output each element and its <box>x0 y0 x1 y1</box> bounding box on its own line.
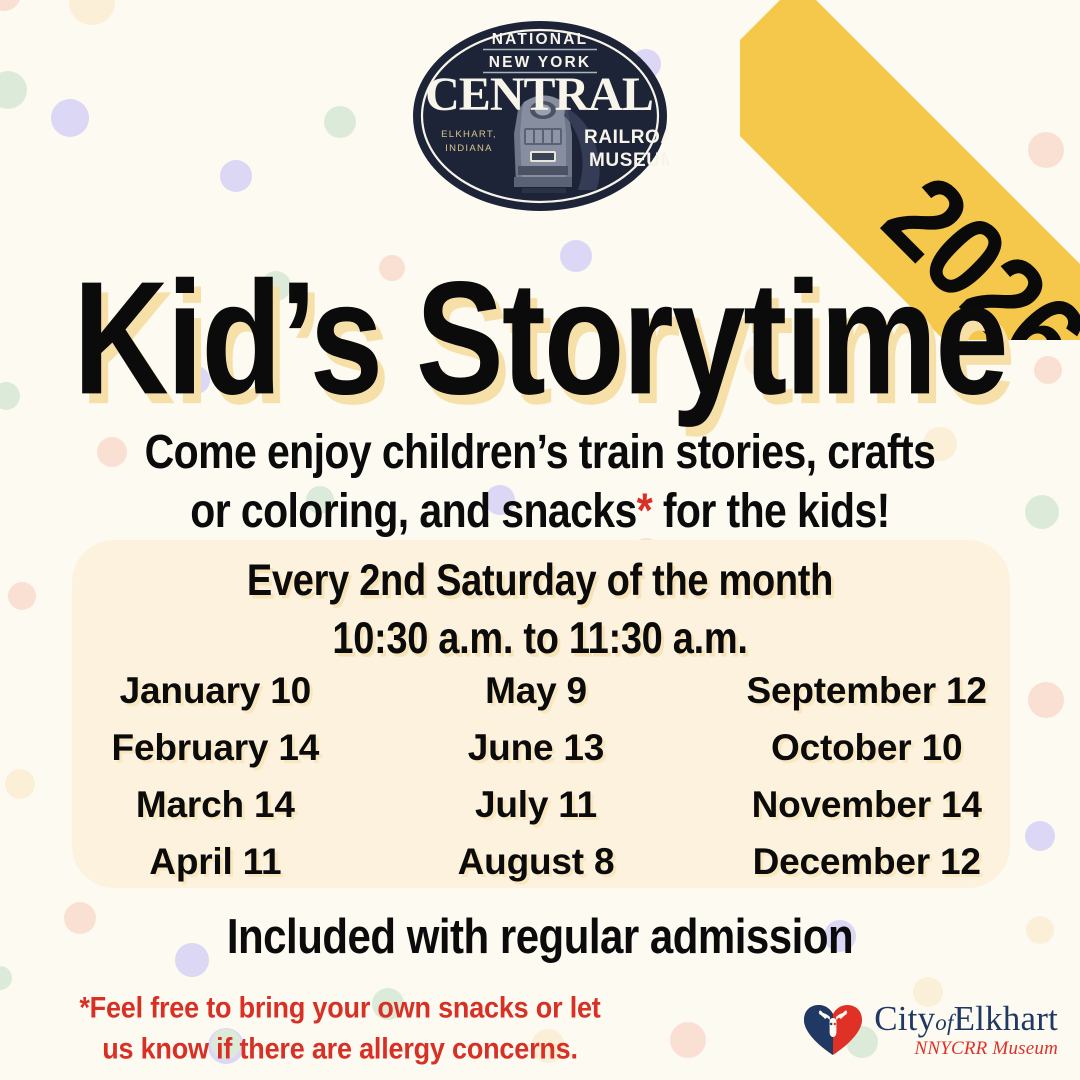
schedule-column-2: May 9 June 13 July 11 August 8 <box>393 665 708 887</box>
city-name-of: of <box>935 1010 953 1035</box>
schedule-date: June 13 <box>468 722 604 773</box>
city-name: CityofElkhart <box>874 1001 1058 1036</box>
schedule-date: November 14 <box>752 779 982 830</box>
logo-right-line1: RAILROAD <box>584 127 669 148</box>
city-name-city: City <box>874 999 935 1038</box>
subtitle: Come enjoy children’s train stories, cra… <box>0 422 1080 540</box>
subtitle-line-1: Come enjoy children’s train stories, cra… <box>44 422 1036 481</box>
schedule-date: August 8 <box>458 836 615 887</box>
schedule-date: February 14 <box>112 722 320 773</box>
schedule-dates: January 10 February 14 March 14 April 11… <box>72 665 1010 887</box>
schedule-date: January 10 <box>120 665 311 716</box>
footnote-line-1: *Feel free to bring your own snacks or l… <box>40 988 640 1029</box>
confetti-dot <box>5 769 35 799</box>
museum-logo: NATIONAL NEW YORK CENTRAL ELKHART, INDIA… <box>411 18 669 214</box>
schedule-heading: Every 2nd Saturday of the month 10:30 a.… <box>0 552 1080 668</box>
schedule-date: March 14 <box>136 779 295 830</box>
confetti-dot <box>1028 682 1064 718</box>
admission-note: Included with regular admission <box>0 908 1080 965</box>
schedule-column-1: January 10 February 14 March 14 April 11 <box>72 665 393 887</box>
schedule-heading-line-2: 10:30 a.m. to 11:30 a.m. <box>0 610 1080 668</box>
schedule-date: April 11 <box>149 836 281 887</box>
footnote-line-2: us know if there are allergy concerns. <box>40 1029 640 1070</box>
subtitle-line-2-before: or coloring, and snacks <box>190 483 636 537</box>
logo-location-line2: INDIANA <box>445 143 493 154</box>
confetti-dot <box>670 1022 706 1058</box>
confetti-dot <box>0 966 12 990</box>
elk-heart-icon <box>800 1002 866 1058</box>
city-logo-subtitle: NNYCRR Museum <box>874 1039 1058 1058</box>
city-of-elkhart-logo: CityofElkhart NNYCRR Museum <box>800 1001 1058 1058</box>
subtitle-line-2-after: for the kids! <box>652 483 890 537</box>
subtitle-line-2: or coloring, and snacks* for the kids! <box>44 481 1036 540</box>
logo-line1: NATIONAL <box>492 31 589 48</box>
schedule-date: December 12 <box>753 836 981 887</box>
snacks-asterisk: * <box>637 483 652 537</box>
schedule-heading-line-1: Every 2nd Saturday of the month <box>0 552 1080 610</box>
confetti-dot <box>1025 821 1055 851</box>
city-name-place: Elkhart <box>954 999 1058 1038</box>
schedule-column-3: September 12 October 10 November 14 Dece… <box>707 665 1010 887</box>
confetti-dot <box>69 0 115 25</box>
allergy-footnote: *Feel free to bring your own snacks or l… <box>40 988 640 1070</box>
city-logo-text: CityofElkhart NNYCRR Museum <box>874 1001 1058 1058</box>
schedule-date: September 12 <box>747 665 987 716</box>
confetti-dot <box>51 99 89 137</box>
confetti-dot <box>324 106 356 138</box>
schedule-date: May 9 <box>485 665 587 716</box>
logo-location-line1: ELKHART, <box>441 129 497 140</box>
schedule-date: October 10 <box>771 722 962 773</box>
schedule-date: July 11 <box>475 779 597 830</box>
confetti-dot <box>0 0 21 11</box>
logo-right-line2: MUSEUM <box>589 150 669 171</box>
logo-wordmark: CENTRAL <box>425 68 653 121</box>
confetti-dot <box>0 71 27 109</box>
page-title: Kid’s Storytime <box>0 258 1080 419</box>
confetti-dot <box>220 160 252 192</box>
